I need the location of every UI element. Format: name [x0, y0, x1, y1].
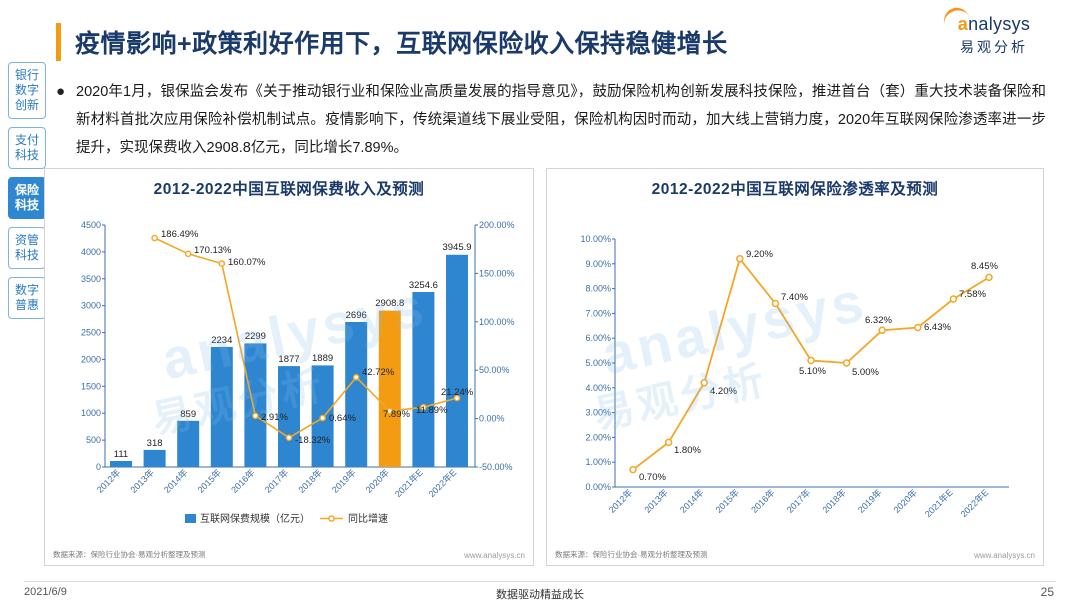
- svg-text:4.00%: 4.00%: [585, 383, 611, 393]
- svg-text:6.43%: 6.43%: [924, 322, 951, 333]
- svg-text:50.00%: 50.00%: [479, 365, 510, 375]
- svg-text:3254.6: 3254.6: [409, 280, 438, 291]
- svg-text:2021年E: 2021年E: [922, 487, 955, 520]
- svg-text:1.80%: 1.80%: [674, 445, 701, 456]
- svg-text:42.72%: 42.72%: [362, 367, 395, 378]
- svg-text:2019年: 2019年: [329, 467, 357, 495]
- svg-text:7.89%: 7.89%: [383, 409, 410, 420]
- chart-legend-revenue: 互联网保费规模（亿元） 同比增速: [185, 512, 388, 525]
- brand-subtitle: 易观分析: [934, 37, 1054, 57]
- sidebar-item-insurance[interactable]: 保险科技: [8, 177, 46, 219]
- svg-text:7.00%: 7.00%: [585, 308, 611, 318]
- bullet-text: 2020年1月，银保监会发布《关于推动银行业和保险业高质量发展的指导意见》，鼓励…: [76, 78, 1046, 162]
- svg-text:9.20%: 9.20%: [746, 249, 773, 260]
- svg-text:2299: 2299: [245, 331, 266, 342]
- page-title-bar: 疫情影响+政策利好作用下，互联网保险收入保持稳健增长: [56, 18, 956, 66]
- svg-text:3.00%: 3.00%: [585, 408, 611, 418]
- svg-text:2015年: 2015年: [195, 467, 223, 495]
- svg-text:21.24%: 21.24%: [441, 387, 474, 398]
- svg-text:2017年: 2017年: [262, 467, 290, 495]
- svg-text:5.00%: 5.00%: [585, 358, 611, 368]
- svg-text:2000: 2000: [81, 354, 101, 364]
- svg-text:3000: 3000: [81, 301, 101, 311]
- page-title: 疫情影响+政策利好作用下，互联网保险收入保持稳健增长: [75, 24, 728, 60]
- title-accent-bar: [56, 23, 61, 61]
- svg-text:2908.8: 2908.8: [375, 298, 404, 309]
- svg-text:2017年: 2017年: [784, 487, 812, 515]
- svg-text:同比增速: 同比增速: [348, 512, 388, 525]
- svg-text:1000: 1000: [81, 408, 101, 418]
- footer-page-number: 25: [1041, 585, 1054, 599]
- svg-text:3500: 3500: [81, 274, 101, 284]
- y-axis-ticks-penetration: 0.00% 1.00% 2.00% 3.00% 4.00% 5.00% 6.00…: [580, 234, 615, 492]
- svg-text:2018年: 2018年: [820, 487, 848, 515]
- svg-text:2696: 2696: [346, 310, 367, 321]
- footer-divider: [24, 581, 1056, 582]
- svg-text:2019年: 2019年: [855, 487, 883, 515]
- svg-text:160.07%: 160.07%: [228, 257, 266, 268]
- svg-text:0.64%: 0.64%: [329, 413, 356, 424]
- chart-title-penetration: 2012-2022中国互联网保险渗透率及预测: [547, 169, 1043, 199]
- svg-text:1877: 1877: [278, 354, 299, 365]
- svg-text:6.00%: 6.00%: [585, 333, 611, 343]
- svg-text:-18.32%: -18.32%: [295, 435, 331, 446]
- svg-text:3945.9: 3945.9: [442, 242, 471, 253]
- svg-text:4000: 4000: [81, 247, 101, 257]
- svg-text:318: 318: [147, 438, 163, 449]
- svg-text:2500: 2500: [81, 328, 101, 338]
- svg-text:2022年E: 2022年E: [958, 487, 991, 520]
- svg-text:2014年: 2014年: [677, 487, 705, 515]
- svg-text:859: 859: [180, 409, 196, 420]
- sidebar-item-payment[interactable]: 支付科技: [8, 127, 46, 169]
- svg-text:2.00%: 2.00%: [585, 432, 611, 442]
- svg-text:111: 111: [114, 449, 128, 460]
- chart-site-penetration: www.analysys.cn: [974, 551, 1035, 560]
- bullet-block: ● 2020年1月，银保监会发布《关于推动银行业和保险业高质量发展的指导意见》，…: [56, 78, 1046, 162]
- sidebar-item-asset[interactable]: 资管科技: [8, 227, 46, 269]
- brand-rest: nalysys: [968, 14, 1030, 34]
- svg-text:2021年E: 2021年E: [392, 467, 425, 500]
- x-axis-categories: 2012年 2013年 2014年 2015年 2016年 2017年 2018…: [94, 467, 458, 500]
- svg-text:10.00%: 10.00%: [580, 234, 611, 244]
- x-axis-categories-penetration: 2012年 2013年 2014年 2015年 2016年 2017年 2018…: [606, 487, 990, 520]
- svg-text:8.00%: 8.00%: [585, 284, 611, 294]
- svg-text:500: 500: [86, 435, 101, 445]
- svg-text:2020年: 2020年: [891, 487, 919, 515]
- chart-svg-penetration: 0.00% 1.00% 2.00% 3.00% 4.00% 5.00% 6.00…: [547, 199, 1043, 539]
- chart-source-penetration: 数据来源：保险行业协会·易观分析整理及预测: [555, 549, 708, 560]
- svg-text:2015年: 2015年: [713, 487, 741, 515]
- sidebar-item-inclusive[interactable]: 数字普惠: [8, 277, 46, 319]
- svg-text:5.10%: 5.10%: [799, 366, 826, 377]
- svg-text:1500: 1500: [81, 381, 101, 391]
- y-axis-left-ticks: 0 500 1000 1500 2000 2500 3000 3500 4000…: [81, 220, 105, 472]
- svg-text:2.91%: 2.91%: [261, 412, 288, 423]
- svg-text:4.20%: 4.20%: [710, 386, 737, 397]
- svg-text:0: 0: [96, 462, 101, 472]
- svg-text:2234: 2234: [211, 335, 232, 346]
- svg-text:0.70%: 0.70%: [639, 472, 666, 483]
- svg-text:200.00%: 200.00%: [479, 220, 515, 230]
- chart-site-revenue: www.analysys.cn: [464, 551, 525, 560]
- line-series-penetration: [630, 256, 992, 473]
- svg-text:2020年: 2020年: [363, 467, 391, 495]
- sidebar-item-bank[interactable]: 银行数字创新: [8, 62, 46, 119]
- svg-text:11.89%: 11.89%: [416, 405, 448, 416]
- svg-text:9.00%: 9.00%: [585, 259, 611, 269]
- svg-text:2022年E: 2022年E: [426, 467, 459, 500]
- chart-panel-penetration: 2012-2022中国互联网保险渗透率及预测 0.00% 1.00% 2.00%…: [546, 168, 1044, 566]
- svg-text:互联网保费规模（亿元）: 互联网保费规模（亿元）: [200, 512, 310, 525]
- svg-text:7.58%: 7.58%: [959, 289, 986, 300]
- chart-title-revenue: 2012-2022中国互联网保费收入及预测: [45, 169, 533, 199]
- svg-text:2016年: 2016年: [749, 487, 777, 515]
- penetration-value-labels: 0.70% 1.80% 4.20% 9.20% 7.40% 5.10% 5.00…: [639, 249, 998, 483]
- svg-text:170.13%: 170.13%: [194, 245, 232, 256]
- sidebar: 银行数字创新 支付科技 保险科技 资管科技 数字普惠: [8, 62, 46, 319]
- chart-panel-revenue: 2012-2022中国互联网保费收入及预测 0 500 1000 1500 20…: [44, 168, 534, 566]
- svg-text:186.49%: 186.49%: [161, 229, 199, 240]
- svg-text:6.32%: 6.32%: [865, 315, 892, 326]
- bullet-dot: ●: [56, 78, 76, 162]
- svg-text:2014年: 2014年: [161, 467, 189, 495]
- svg-text:0.00%: 0.00%: [585, 482, 611, 492]
- svg-text:7.40%: 7.40%: [781, 292, 808, 303]
- svg-text:5.00%: 5.00%: [852, 367, 879, 378]
- svg-text:2013年: 2013年: [642, 487, 670, 515]
- y-axis-right-ticks: -50.00% 0.00% 50.00% 100.00% 150.00% 200…: [475, 220, 515, 472]
- svg-text:4500: 4500: [81, 220, 101, 230]
- svg-text:-50.00%: -50.00%: [479, 462, 513, 472]
- svg-text:1.00%: 1.00%: [585, 457, 611, 467]
- svg-text:2016年: 2016年: [229, 467, 257, 495]
- svg-text:0.00%: 0.00%: [479, 414, 505, 424]
- svg-text:150.00%: 150.00%: [479, 268, 515, 278]
- svg-text:2018年: 2018年: [296, 467, 324, 495]
- svg-text:2013年: 2013年: [128, 467, 156, 495]
- footer-tagline: 数据驱动精益成长: [0, 586, 1080, 602]
- svg-text:1889: 1889: [312, 353, 333, 364]
- svg-text:100.00%: 100.00%: [479, 317, 515, 327]
- brand-logo: analysys 易观分析: [934, 14, 1054, 57]
- chart-svg-revenue: 0 500 1000 1500 2000 2500 3000 3500 4000…: [45, 199, 533, 539]
- svg-text:8.45%: 8.45%: [971, 261, 998, 272]
- chart-source-revenue: 数据来源：保险行业协会·易观分析整理及预测: [53, 549, 206, 560]
